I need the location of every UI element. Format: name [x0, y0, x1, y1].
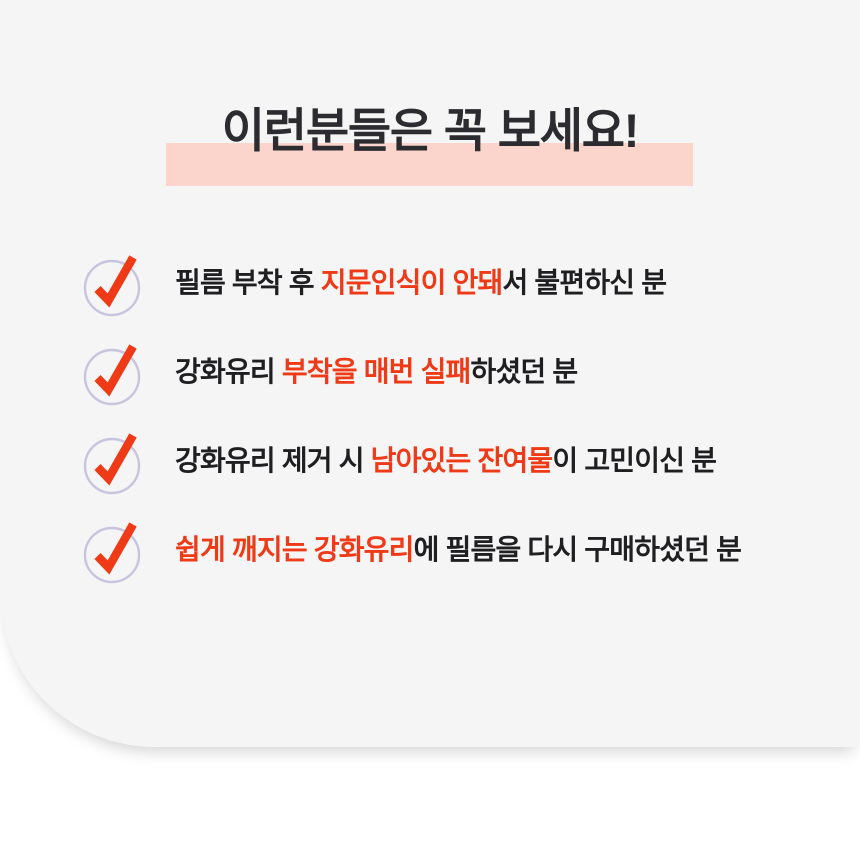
- plain-text: 이 고민이신 분: [552, 445, 716, 476]
- checklist-item-label: 쉽게 깨지는 강화유리에 필름을 다시 구매하셨던 분: [175, 533, 741, 567]
- emphasis-text: 지문인식이 안돼: [321, 267, 503, 298]
- plain-text: 하셨던 분: [471, 356, 578, 387]
- checklist-item-attach-fail: 강화유리 부착을 매번 실패하셨던 분: [0, 327, 860, 416]
- check-circle-icon: [75, 335, 149, 409]
- checklist-item-residue: 강화유리 제거 시 남아있는 잔여물이 고민이신 분: [0, 416, 860, 505]
- plain-text: 필름 부착 후: [175, 267, 321, 298]
- emphasis-text: 부착을 매번 실패: [282, 356, 471, 387]
- plain-text: 에 필름을 다시 구매하셨던 분: [414, 534, 741, 565]
- emphasis-text: 쉽게 깨지는 강화유리: [175, 534, 414, 565]
- checklist-item-label: 강화유리 제거 시 남아있는 잔여물이 고민이신 분: [175, 444, 716, 478]
- check-circle-icon: [75, 246, 149, 320]
- plain-text: 서 불편하신 분: [502, 267, 666, 298]
- check-circle-icon: [75, 513, 149, 587]
- check-circle-icon: [75, 424, 149, 498]
- checklist-item-label: 필름 부착 후 지문인식이 안돼서 불편하신 분: [175, 266, 666, 300]
- plain-text: 강화유리: [175, 356, 282, 387]
- checklist-item-fingerprint: 필름 부착 후 지문인식이 안돼서 불편하신 분: [0, 238, 860, 327]
- checklist: 필름 부착 후 지문인식이 안돼서 불편하신 분강화유리 부착을 매번 실패하셨…: [0, 238, 860, 594]
- plain-text: 강화유리 제거 시: [175, 445, 371, 476]
- page-title-block: 이런분들은 꼭 보세요!: [0, 96, 860, 192]
- emphasis-text: 남아있는 잔여물: [371, 445, 553, 476]
- checklist-item-label: 강화유리 부착을 매번 실패하셨던 분: [175, 355, 577, 389]
- checklist-item-breakage: 쉽게 깨지는 강화유리에 필름을 다시 구매하셨던 분: [0, 505, 860, 594]
- page-title: 이런분들은 꼭 보세요!: [0, 96, 860, 166]
